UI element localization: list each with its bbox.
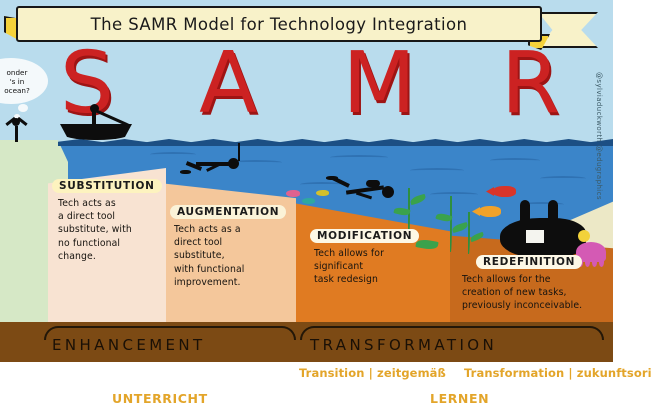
- submarine-conning-tower-right: [548, 200, 558, 222]
- german-lernen-label: LERNEN: [430, 391, 489, 406]
- headline-letter-a: A: [199, 44, 257, 125]
- transformation-label: TRANSFORMATION: [310, 336, 497, 354]
- samr-headline: S A M R: [60, 44, 560, 136]
- water-ripple: [490, 158, 540, 163]
- callout-augmentation-label: AUGMENTATION: [170, 205, 286, 219]
- fish-pink-small: [286, 190, 300, 197]
- headline-letter-r: R: [501, 44, 560, 125]
- fish-teal-small: [302, 198, 315, 204]
- illustration-canvas: The SAMR Model for Technology Integratio…: [0, 0, 613, 362]
- shore-person-body: [15, 126, 18, 142]
- scuba-diver-fin: [326, 176, 338, 180]
- water-ripple: [540, 176, 586, 181]
- headline-letter-m: M: [342, 44, 415, 125]
- callout-modification-body: Tech allows for significant task redesig…: [310, 247, 438, 287]
- canoe-boat: [60, 124, 132, 140]
- german-transformation-caption: Transformation | zukunftsorie: [464, 366, 652, 380]
- fish-orange: [478, 206, 501, 217]
- artist-signature: @sylviaduckworth @edugraphics: [592, 72, 605, 200]
- submarine-window-right: [548, 228, 568, 245]
- samr-infographic-screenshot: The SAMR Model for Technology Integratio…: [0, 0, 652, 410]
- callout-modification-label: MODIFICATION: [310, 229, 419, 243]
- signature-handle-primary: @sylviaduckworth: [595, 72, 603, 142]
- title-banner: The SAMR Model for Technology Integratio…: [16, 6, 542, 42]
- enhancement-label: ENHANCEMENT: [52, 336, 206, 354]
- callout-substitution: SUBSTITUTION Tech acts as a direct tool …: [52, 174, 160, 263]
- callout-substitution-label: SUBSTITUTION: [52, 179, 162, 193]
- fish-yellow-small: [316, 190, 329, 196]
- callout-augmentation-body: Tech acts as a direct tool substitute, w…: [170, 223, 286, 289]
- submarine-conning-tower-left: [520, 200, 530, 222]
- german-transition-caption: Transition | zeitgemäß: [299, 366, 446, 380]
- fish-red: [492, 186, 516, 197]
- submarine-window-left: [524, 228, 546, 245]
- signature-handle-secondary: @edugraphics: [595, 145, 603, 200]
- water-ripple: [300, 182, 344, 187]
- callout-redefinition-label: REDEFINITION: [476, 255, 582, 269]
- water-ripple: [430, 192, 478, 197]
- snorkel-tube: [238, 143, 240, 161]
- water-ripple: [330, 155, 388, 160]
- callout-modification: MODIFICATION Tech allows for significant…: [310, 224, 438, 287]
- callout-redefinition: REDEFINITION Tech allows for the creatio…: [462, 250, 610, 313]
- thought-bubble-dot-large: [18, 104, 28, 112]
- submarine-headlight: [578, 230, 590, 242]
- water-ripple: [410, 168, 464, 173]
- canoe-paddler-body: [92, 112, 96, 126]
- thought-bubble-text: onder 's in ocean?: [4, 68, 30, 95]
- scuba-diver-tank: [366, 180, 380, 187]
- callout-substitution-body: Tech acts as a direct tool substitute, w…: [52, 197, 160, 263]
- snorkeler-fin: [180, 170, 191, 174]
- water-ripple: [150, 152, 196, 157]
- german-unterricht-label: UNTERRICHT: [112, 391, 208, 406]
- banner-title-text: The SAMR Model for Technology Integratio…: [91, 15, 468, 34]
- callout-redefinition-body: Tech allows for the creation of new task…: [462, 273, 610, 313]
- callout-augmentation: AUGMENTATION Tech acts as a direct tool …: [170, 200, 286, 289]
